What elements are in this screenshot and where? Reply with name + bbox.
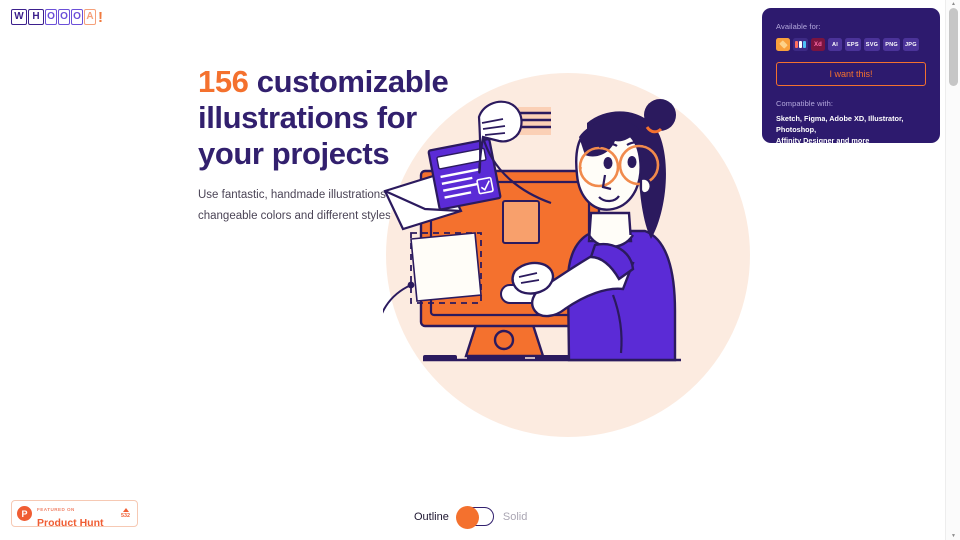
adobe-xd-glyph-icon: Xd	[814, 42, 822, 48]
logo-cell-o2: O	[58, 9, 70, 25]
logo-cell-o3: O	[71, 9, 83, 25]
download-panel: Available for: Xd AI EPS SVG PNG JPG I w…	[762, 8, 940, 143]
compatible-apps-list: Sketch, Figma, Adobe XD, Illustrator, Ph…	[776, 113, 926, 146]
glasses-temple	[580, 167, 581, 169]
ear	[641, 179, 651, 193]
monitor-stand	[466, 325, 543, 356]
page-scrollbar[interactable]: ▲ ▼	[945, 0, 960, 540]
product-hunt-votes: 532	[121, 508, 132, 519]
figma-glyph-icon	[795, 41, 806, 48]
figma-badge[interactable]	[793, 38, 808, 51]
product-hunt-vote-count: 532	[121, 513, 130, 519]
sketch-badge[interactable]	[776, 38, 790, 51]
product-hunt-logo-icon: P	[17, 506, 32, 521]
compatible-apps-line-1: Sketch, Figma, Adobe XD, Illustrator, Ph…	[776, 113, 926, 135]
illustration-svg	[383, 63, 758, 445]
headline-count: 156	[198, 64, 249, 99]
scroll-up-arrow-icon[interactable]: ▲	[946, 0, 960, 8]
hero-subtitle-line-1: Use fantastic, handmade illustrations wi…	[198, 189, 410, 201]
style-toggle-group: Outline Solid	[414, 507, 527, 526]
white-paper	[411, 233, 481, 301]
available-for-label: Available for:	[776, 22, 926, 31]
compatible-with-label: Compatible with:	[776, 99, 926, 108]
eps-badge[interactable]: EPS	[845, 38, 861, 51]
ai-badge[interactable]: AI	[828, 38, 842, 51]
document-card	[428, 139, 500, 210]
logo-cell-a: A	[84, 9, 96, 25]
pointing-hand	[513, 263, 553, 294]
page-root: W H O O O A ! 156 customizable illustrat…	[0, 0, 960, 540]
toggle-label-solid[interactable]: Solid	[503, 511, 527, 523]
logo-cell-h: H	[28, 9, 44, 25]
adobe-xd-badge[interactable]: Xd	[811, 38, 825, 51]
png-badge[interactable]: PNG	[883, 38, 900, 51]
desk-block-left	[423, 355, 457, 361]
eye-left	[604, 157, 613, 169]
scroll-down-arrow-icon[interactable]: ▼	[946, 532, 960, 540]
i-want-this-button[interactable]: I want this!	[776, 62, 926, 86]
hero-illustration	[383, 63, 758, 445]
logo-cell-w: W	[11, 9, 27, 25]
switch-knob[interactable]	[456, 506, 479, 529]
screen-swatch	[503, 201, 539, 243]
product-hunt-text: FEATURED ON Product Hunt	[37, 498, 121, 529]
outline-solid-switch[interactable]	[458, 507, 494, 526]
compatible-apps-line-2: Affinity Designer and more	[776, 135, 926, 146]
scrollbar-thumb[interactable]	[949, 8, 958, 86]
format-badge-list: Xd AI EPS SVG PNG JPG	[776, 38, 926, 51]
product-hunt-kicker: FEATURED ON	[37, 507, 75, 512]
svg-badge[interactable]: SVG	[864, 38, 880, 51]
upvote-caret-icon	[123, 508, 129, 512]
hair-bun	[644, 99, 676, 131]
sketch-diamond-icon	[779, 40, 788, 49]
product-hunt-name: Product Hunt	[37, 517, 121, 529]
jpg-badge[interactable]: JPG	[903, 38, 919, 51]
logo-exclamation: !	[98, 10, 103, 25]
product-hunt-badge[interactable]: P FEATURED ON Product Hunt 532	[11, 500, 138, 527]
toggle-label-outline[interactable]: Outline	[414, 511, 449, 523]
eye-right	[628, 156, 637, 168]
site-logo[interactable]: W H O O O A !	[11, 9, 103, 25]
logo-cell-o1: O	[45, 9, 57, 25]
